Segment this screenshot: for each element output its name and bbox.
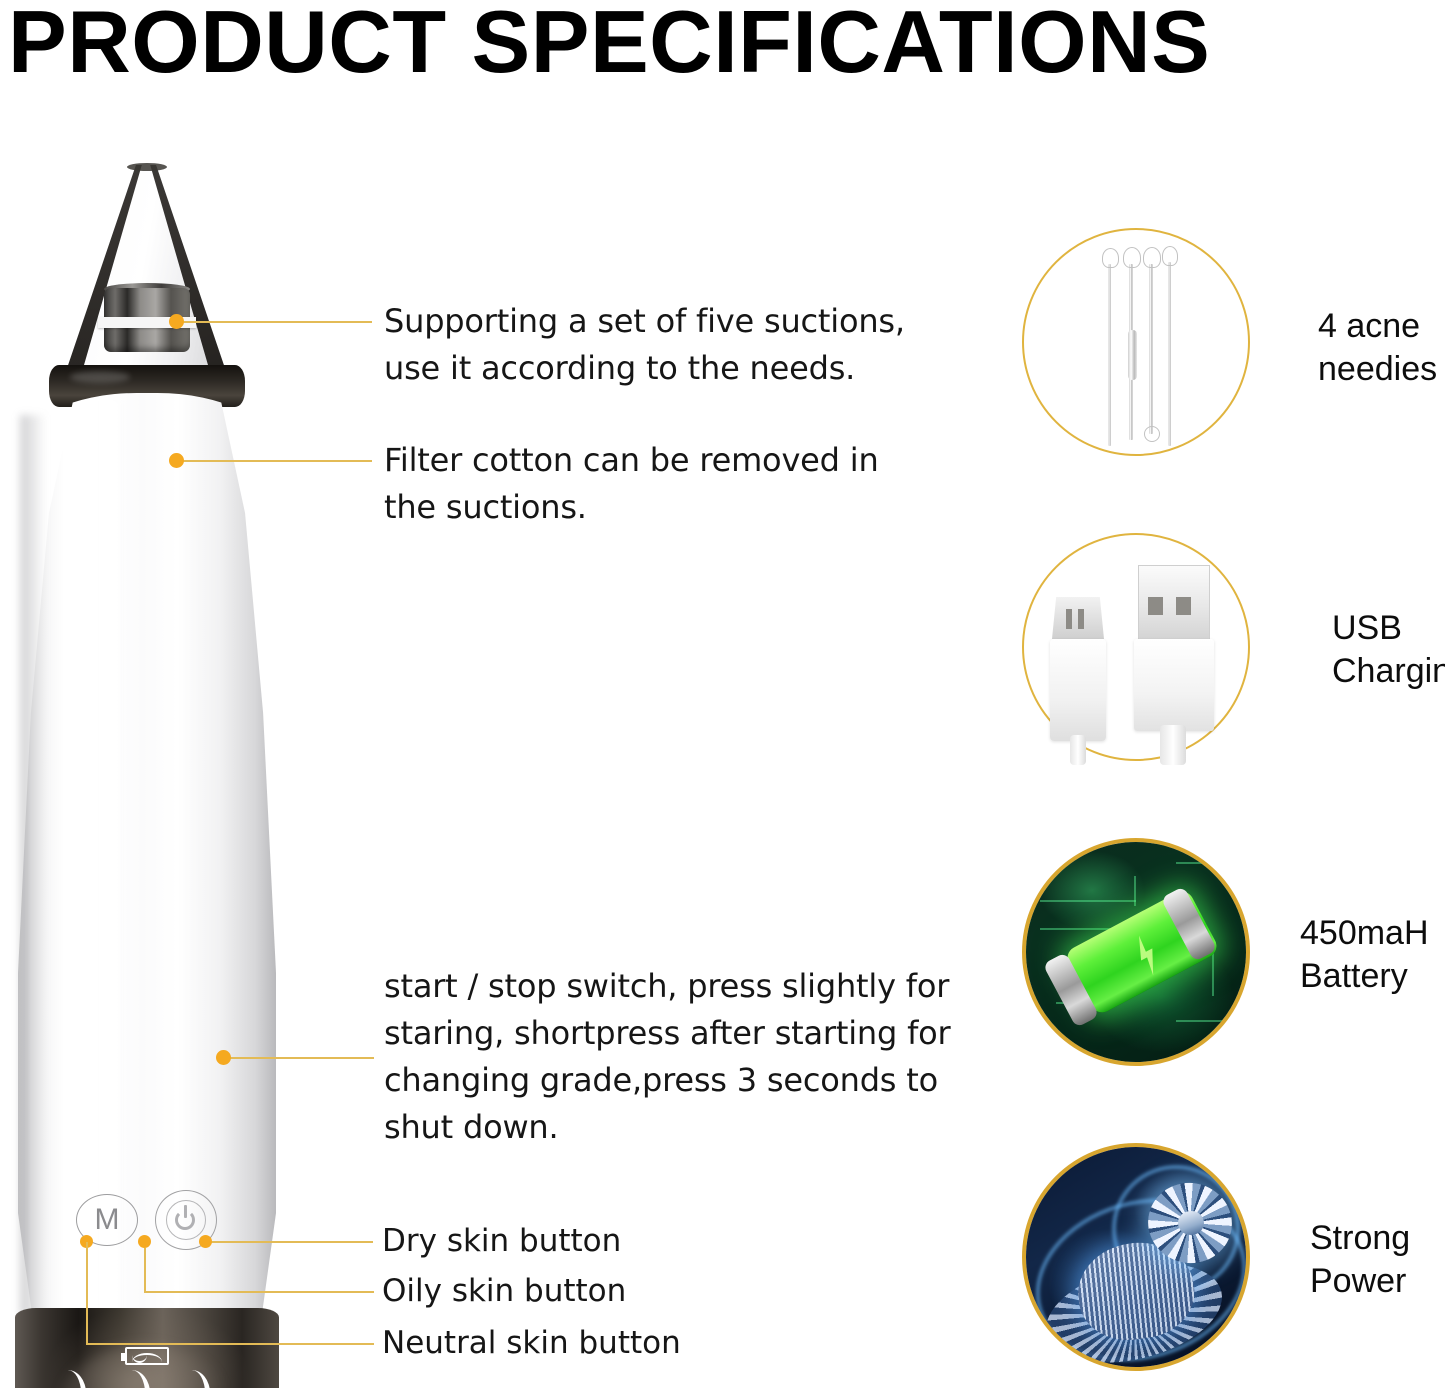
- mode-indicator-oil[interactable]: [60, 1370, 86, 1388]
- callout-start-stop: start / stop switch, press slightly for …: [384, 963, 964, 1151]
- callout-filter-cotton: Filter cotton can be removed in the suct…: [384, 437, 904, 531]
- leader-line-neutral-skin-vertical: [86, 1242, 88, 1344]
- device-body-highlight: [96, 400, 126, 1330]
- leader-line-neutral-skin: [86, 1343, 374, 1345]
- turbine-motor-icon: [1026, 1147, 1246, 1367]
- leader-dot-dry-skin: [199, 1235, 212, 1248]
- device-collar-highlight: [70, 371, 130, 383]
- feature-label-strong-power: Strong Power: [1310, 1217, 1410, 1303]
- leader-line-start-stop: [228, 1057, 374, 1059]
- callout-dry-skin: Dry skin button: [382, 1222, 621, 1260]
- usb-cable-icon: [1024, 535, 1248, 759]
- leader-line-dry-skin: [209, 1241, 373, 1243]
- feature-circle-acne-needles: [1022, 228, 1250, 456]
- leader-line-suctions: [182, 321, 372, 323]
- callout-neutral-skin: Neutral skin button: [382, 1324, 681, 1362]
- callout-oily-skin: Oily skin button: [382, 1272, 626, 1310]
- page-title: PRODUCT SPECIFICATIONS: [8, 0, 1440, 88]
- leader-dot-start-stop: [216, 1050, 231, 1065]
- nozzle-top-rim: [127, 163, 167, 171]
- acne-needles-icon: [1024, 230, 1248, 454]
- battery-photo-icon: [1026, 842, 1246, 1062]
- feature-circle-usb-charging: [1022, 533, 1250, 761]
- feature-circle-battery: [1022, 838, 1250, 1066]
- feature-label-battery: 450maH Battery: [1300, 912, 1429, 998]
- feature-label-usb-charging: USB Charging: [1332, 607, 1445, 693]
- mode-button-label: M: [95, 1203, 120, 1237]
- leader-dot-neutral-skin: [138, 1235, 151, 1248]
- leader-dot-suctions: [169, 314, 184, 329]
- device-illustration: M Oil neutr Dry: [0, 165, 300, 1380]
- feature-label-acne-needles: 4 acne needies: [1318, 305, 1437, 391]
- mode-indicator-dry[interactable]: [184, 1370, 210, 1388]
- power-icon: [166, 1200, 206, 1240]
- device-body-shadow: [20, 415, 46, 1315]
- leader-line-oily-skin-vertical: [144, 1248, 146, 1292]
- product-specifications-infographic: PRODUCT SPECIFICATIONS M: [0, 0, 1445, 1388]
- callout-suctions: Supporting a set of five suctions, use i…: [384, 298, 944, 392]
- leader-line-oily-skin: [144, 1291, 374, 1293]
- mode-indicator-neutral[interactable]: [124, 1370, 150, 1388]
- feature-circle-strong-power: [1022, 1143, 1250, 1371]
- leader-dot-filter-cotton: [169, 453, 184, 468]
- leader-line-filter-cotton: [182, 460, 372, 462]
